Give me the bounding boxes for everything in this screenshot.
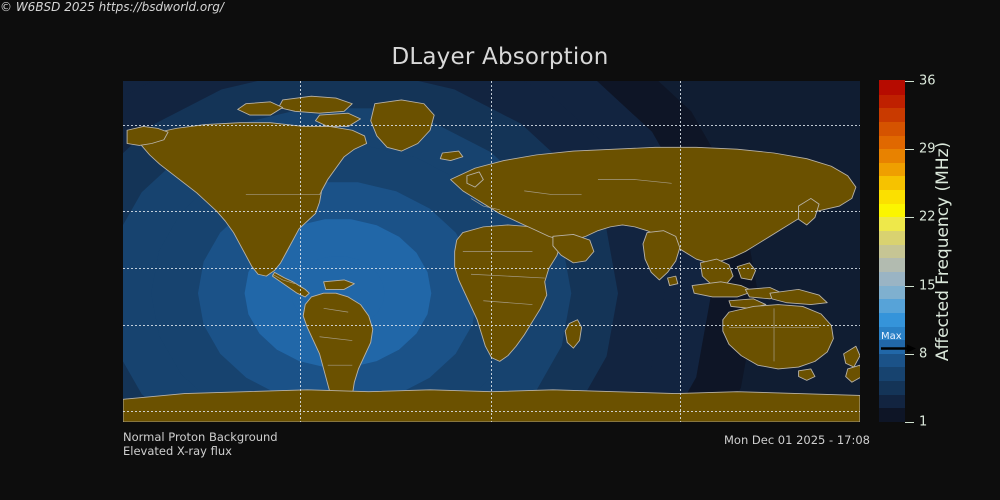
colorbar-segment xyxy=(879,108,905,122)
colorbar-gradient xyxy=(879,81,905,422)
colorbar-segment xyxy=(879,94,905,108)
colorbar-segment xyxy=(879,203,905,217)
colorbar-segment xyxy=(879,394,905,408)
colorbar-segment xyxy=(879,312,905,326)
colorbar-segment xyxy=(879,367,905,381)
colorbar-tick-label: 1 xyxy=(919,415,927,430)
max-arrow-icon xyxy=(881,344,917,353)
colorbar-tick-mark xyxy=(905,149,914,150)
colorbar-segment xyxy=(879,135,905,149)
status-xray-flux: Elevated X-ray flux xyxy=(123,444,232,458)
colorbar-axis-label: Affected Frequency (MHz) xyxy=(930,81,956,422)
colorbar-tick-mark xyxy=(905,422,914,423)
colorbar-segment xyxy=(879,162,905,176)
colorbar-segment xyxy=(879,80,905,94)
colorbar-tick-mark xyxy=(905,81,914,82)
colorbar-segment xyxy=(879,190,905,204)
colorbar-segment xyxy=(879,258,905,272)
max-marker-label: Max xyxy=(881,332,902,342)
colorbar-segment xyxy=(879,285,905,299)
colorbar-segment xyxy=(879,381,905,395)
colorbar-segment xyxy=(879,121,905,135)
colorbar-tick-mark xyxy=(905,217,914,218)
colorbar-segment xyxy=(879,408,905,422)
timestamp: Mon Dec 01 2025 - 17:08 xyxy=(724,433,870,447)
colorbar-tick-mark xyxy=(905,286,914,287)
colorbar-segment xyxy=(879,244,905,258)
dlayer-absorption-map-page: DLayer Absorption xyxy=(0,0,1000,500)
colorbar[interactable] xyxy=(879,81,905,422)
colorbar-segment xyxy=(879,271,905,285)
page-title: DLayer Absorption xyxy=(0,44,1000,70)
colorbar-segment xyxy=(879,176,905,190)
colorbar-segment xyxy=(879,230,905,244)
copyright-notice: © W6BSD 2025 https://bsdworld.org/ xyxy=(0,0,1000,14)
coastline-border-layer xyxy=(123,81,860,422)
colorbar-segment xyxy=(879,217,905,231)
status-proton-background: Normal Proton Background xyxy=(123,430,278,444)
colorbar-segment xyxy=(879,149,905,163)
world-map-panel[interactable] xyxy=(123,81,860,422)
colorbar-max-marker: Max xyxy=(881,332,925,356)
colorbar-segment xyxy=(879,299,905,313)
